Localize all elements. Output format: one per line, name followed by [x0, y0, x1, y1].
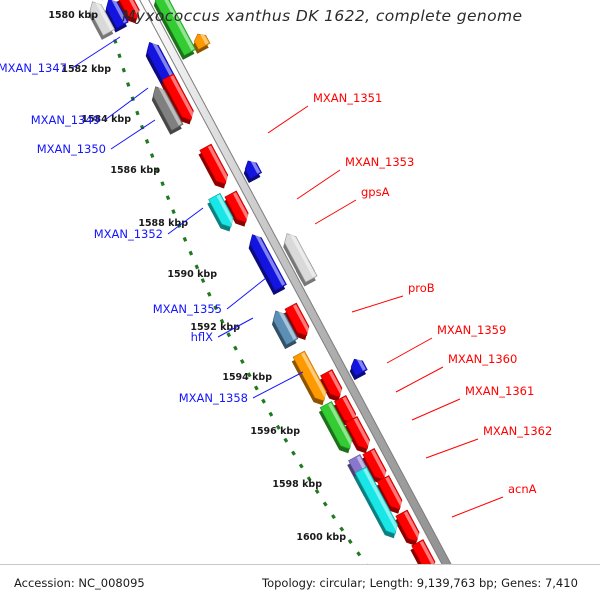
tick-label-9: 1598 kbp — [272, 479, 322, 490]
leader-line — [452, 497, 503, 517]
leader-line — [412, 399, 460, 420]
gene-label-MXAN_1355[interactable]: MXAN_1355 — [153, 278, 266, 316]
page-title: Myxococcus xanthus DK 1622, complete gen… — [122, 7, 522, 25]
tick-label-5: 1590 kbp — [167, 269, 217, 280]
gene-label-gpsA[interactable]: gpsA — [315, 185, 390, 224]
gene-label-text[interactable]: MXAN_1353 — [345, 155, 414, 169]
gene-label-MXAN_1362[interactable]: MXAN_1362 — [426, 424, 552, 458]
gene-label-text[interactable]: MXAN_1350 — [37, 142, 106, 156]
gene-label-text[interactable]: MXAN_1360 — [448, 352, 517, 366]
gene-label-text[interactable]: MXAN_1359 — [437, 323, 506, 337]
gene-label-text[interactable]: MXAN_1355 — [153, 302, 222, 316]
gene-label-text[interactable]: MXAN_1352 — [94, 227, 163, 241]
gene-label-MXAN_1353[interactable]: MXAN_1353 — [297, 155, 414, 199]
gene-label-text[interactable]: MXAN_1362 — [483, 424, 552, 438]
gene-label-text[interactable]: MXAN_1361 — [465, 384, 534, 398]
genome-backbone — [140, 0, 470, 600]
tick-label-8: 1596 kbp — [250, 426, 300, 437]
tick-label-0: 1580 kbp — [48, 10, 98, 21]
leader-line — [426, 439, 478, 458]
coordinate-tick-track — [103, 0, 392, 600]
tick-label-1: 1582 kbp — [61, 64, 111, 75]
gene-label-text[interactable]: gpsA — [361, 185, 390, 199]
leader-line — [297, 170, 340, 199]
leader-line — [352, 296, 403, 312]
accession-label: Accession: NC_008095 — [14, 576, 145, 590]
tick-label-7: 1594 kbp — [222, 372, 272, 383]
tick-label-10: 1600 kbp — [296, 532, 346, 543]
leader-line — [387, 338, 432, 363]
gene-label-text[interactable]: MXAN_1349 — [31, 113, 100, 127]
leader-line — [396, 367, 443, 392]
leader-line — [268, 106, 308, 133]
gene-label-text[interactable]: acnA — [508, 482, 537, 496]
gene-label-MXAN_1351[interactable]: MXAN_1351 — [268, 91, 382, 133]
leader-line — [315, 200, 356, 224]
gene-label-text[interactable]: MXAN_1351 — [313, 91, 382, 105]
genome-viewer: 1580 kbp1582 kbp1584 kbp1586 kbp1588 kbp… — [0, 0, 600, 600]
genome-map-canvas[interactable]: 1580 kbp1582 kbp1584 kbp1586 kbp1588 kbp… — [0, 0, 600, 600]
gene-label-MXAN_1361[interactable]: MXAN_1361 — [412, 384, 534, 420]
gene-label-text[interactable]: MXAN_1347 — [0, 61, 67, 75]
tick-label-3: 1586 kbp — [110, 165, 160, 176]
gene-label-text[interactable]: MXAN_1358 — [179, 391, 248, 405]
gene-label-acnA[interactable]: acnA — [452, 482, 537, 517]
gene-label-text[interactable]: hflX — [191, 330, 214, 344]
gene-label-text[interactable]: proB — [408, 281, 435, 295]
genome-summary-label: Topology: circular; Length: 9,139,763 bp… — [262, 576, 578, 590]
gene-feature-layer[interactable] — [84, 0, 452, 600]
status-bar: Accession: NC_008095 Topology: circular;… — [0, 564, 600, 600]
gene-label-proB[interactable]: proB — [352, 281, 435, 312]
leader-line — [227, 278, 266, 309]
